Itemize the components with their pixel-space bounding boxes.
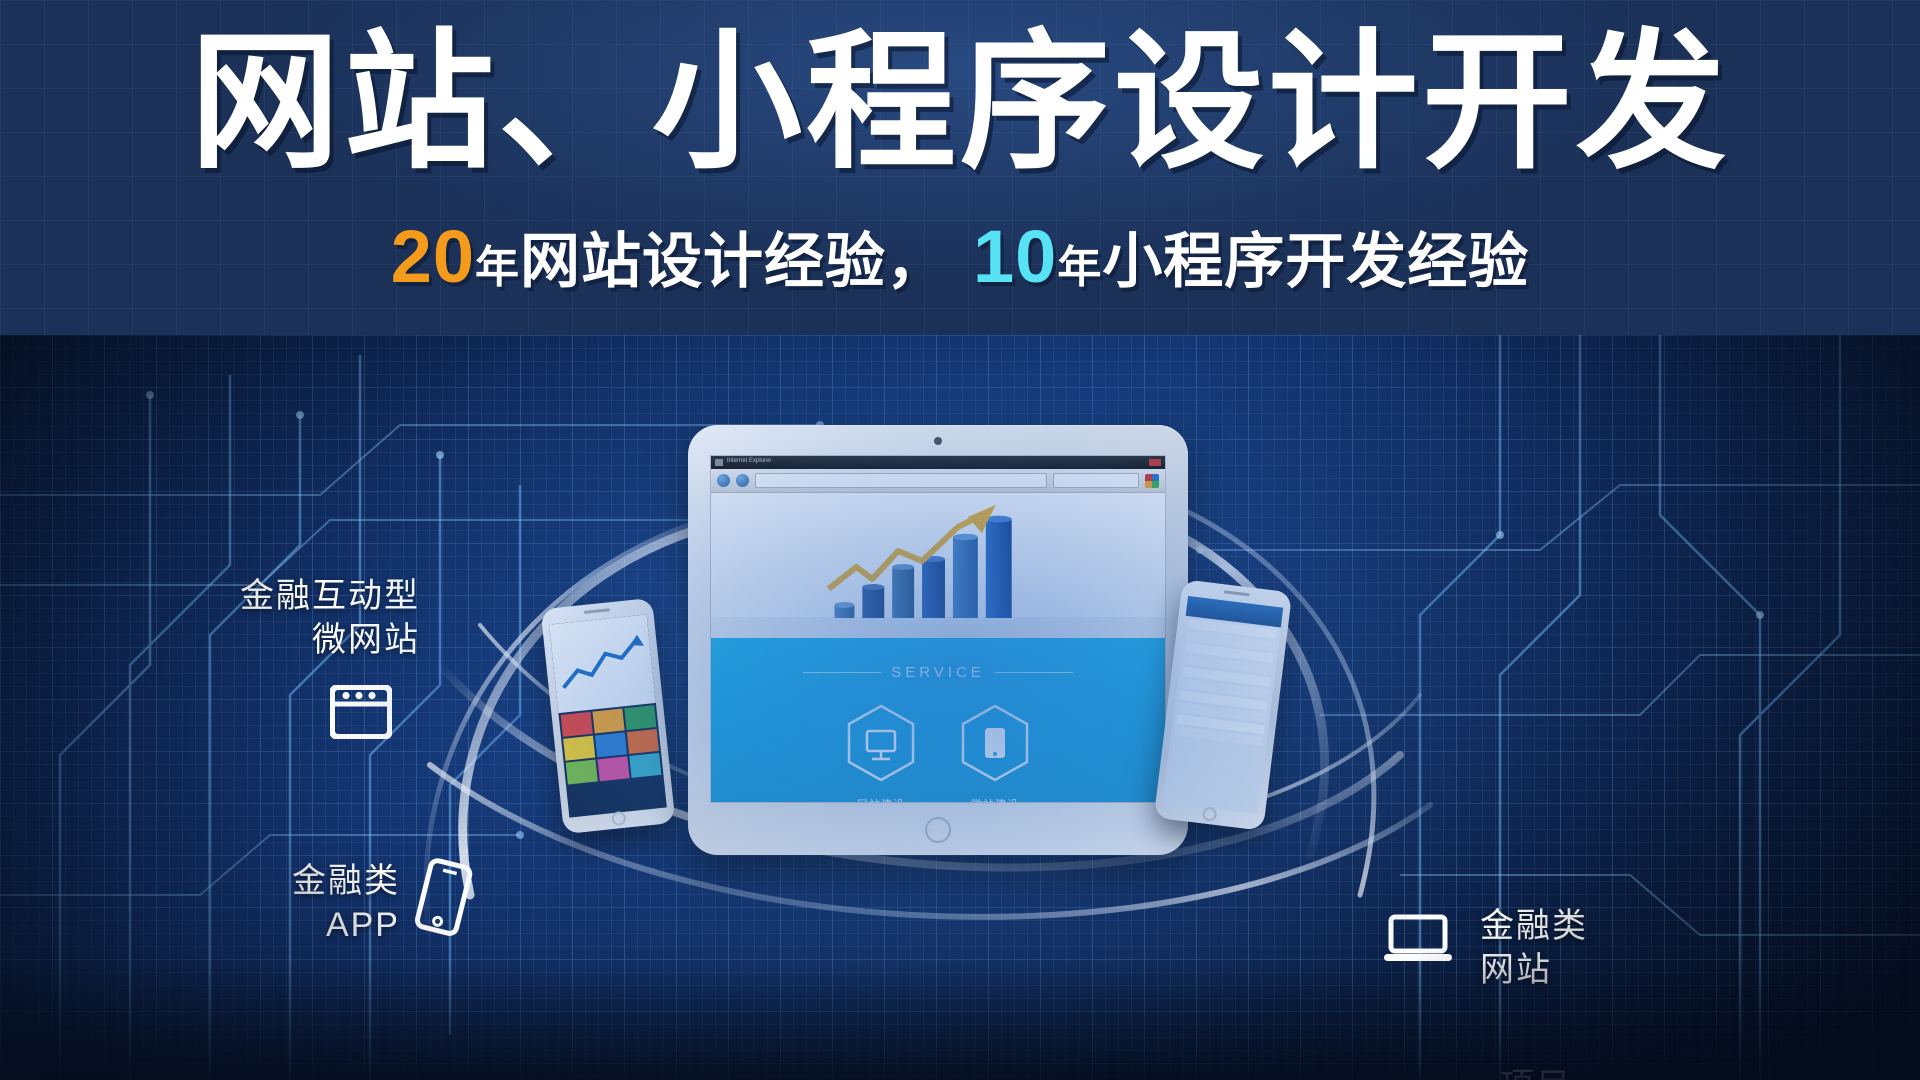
subtitle-years-website-unit: 年 [475, 243, 520, 292]
banner-stage: 金融互动型 微网站 金融类 APP [0, 335, 1920, 1080]
subtitle-years-miniapp-number: 10 [973, 215, 1057, 298]
subtitle-years-website-number: 20 [391, 215, 475, 298]
promo-banner: 网站、小程序设计开发 20年网站设计经验，10年小程序开发经验 [0, 0, 1920, 1080]
stage-reflection [0, 960, 1920, 1080]
subtitle-years-miniapp-unit: 年 [1057, 243, 1102, 292]
subtitle-website-text: 网站设计经验， [520, 228, 947, 295]
banner-header: 网站、小程序设计开发 20年网站设计经验，10年小程序开发经验 [0, 0, 1920, 335]
page-title: 网站、小程序设计开发 [0, 24, 1920, 182]
banner-subtitle: 20年网站设计经验，10年小程序开发经验 [0, 216, 1920, 297]
subtitle-miniapp-text: 小程序开发经验 [1102, 228, 1529, 295]
